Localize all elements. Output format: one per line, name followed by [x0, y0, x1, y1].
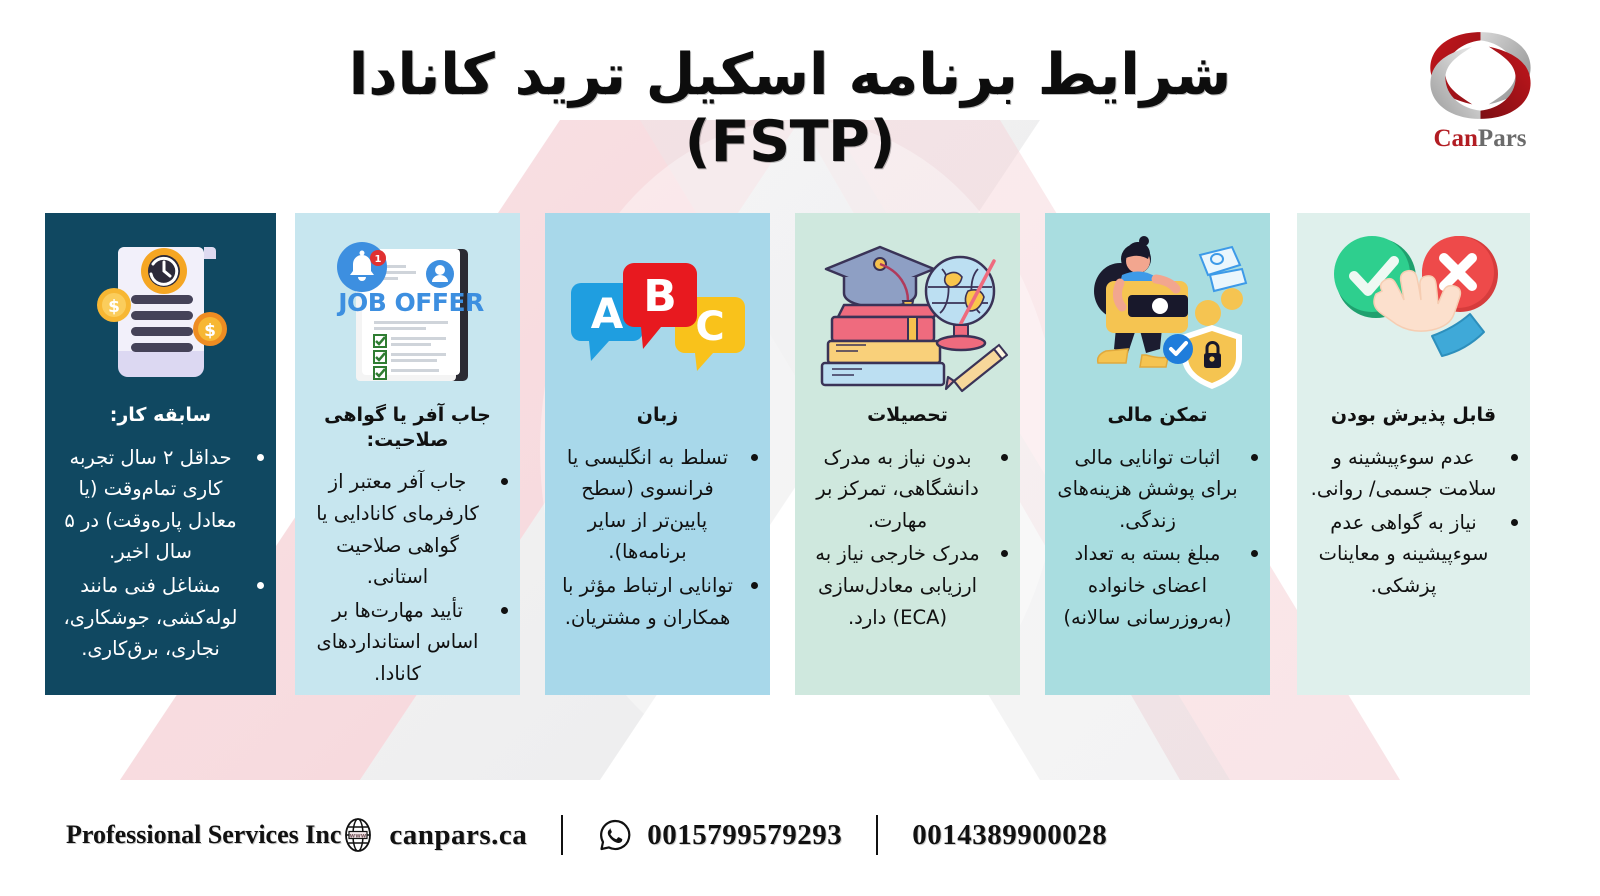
list-item: مبلغ بسته به تعداد اعضای خانواده (به‌روز…	[1057, 538, 1238, 633]
wallet-person-shield-icon	[1060, 229, 1255, 397]
card-bullet-list: حداقل ۲ سال تجربه کاری تمام‌وقت (یا معاد…	[51, 442, 270, 665]
job-offer-illustration: JOB OFFER	[295, 223, 520, 403]
card-bullet-list: تسلط به انگلیسی یا فرانسوی (سطح پایین‌تر…	[551, 442, 764, 633]
canpars-swirl-icon	[1418, 28, 1543, 123]
list-item: تسلط به انگلیسی یا فرانسوی (سطح پایین‌تر…	[557, 442, 738, 568]
education-illustration	[795, 223, 1020, 403]
logo-pars-text: Pars	[1478, 125, 1527, 152]
cards-row: $ $ سابقه کار: حداقل ۲ سال تجربه کاری تم…	[0, 213, 1600, 695]
card-bullet-list: جاب آفر معتبر از کارفرمای کانادایی یا گو…	[301, 466, 514, 689]
infographic-canvas: شرایط برنامه اسکیل ترید کانادا (FSTP)	[0, 0, 1600, 896]
list-item: عدم سوءپیشینه و سلامت جسمی/ روانی.	[1309, 442, 1498, 505]
admissibility-illustration	[1297, 223, 1530, 403]
card-admissibility: قابل پذیرش بودن عدم سوءپیشینه و سلامت جس…	[1297, 213, 1530, 695]
list-item: حداقل ۲ سال تجربه کاری تمام‌وقت (یا معاد…	[57, 442, 244, 568]
footer-divider-1	[561, 815, 563, 855]
abc-speech-bubbles-icon: A C B	[563, 253, 753, 373]
footer-whatsapp-number: 0015799579293	[647, 819, 842, 852]
list-item: مدرک خارجی نیاز به ارزیابی معادل‌سازی (E…	[807, 538, 988, 633]
list-item: توانایی ارتباط مؤثر با همکاران و مشتریان…	[557, 570, 738, 633]
card-bullet-list: عدم سوءپیشینه و سلامت جسمی/ روانی. نیاز …	[1303, 442, 1524, 602]
globe-www-icon: www	[341, 818, 375, 852]
check-cross-hand-icon	[1314, 228, 1514, 398]
footer-website-text: canpars.ca	[389, 819, 527, 852]
footer-divider-2	[876, 815, 878, 855]
svg-text:$: $	[204, 321, 216, 341]
logo-can-text: Can	[1433, 125, 1477, 152]
list-item: بدون نیاز به مدرک دانشگاهی، تمرکز بر مها…	[807, 442, 988, 537]
card-heading: قابل پذیرش بودن	[1297, 403, 1530, 428]
card-heading: سابقه کار:	[45, 403, 276, 428]
footer-secondary-number: 0014389900028	[912, 819, 1107, 852]
work-experience-illustration: $ $	[45, 223, 276, 403]
list-item: مشاغل فنی مانند لوله‌کشی، جوشکاری، نجاری…	[57, 570, 244, 665]
brand-logo: CanPars	[1400, 28, 1560, 158]
svg-text:C: C	[695, 304, 724, 350]
list-item: جاب آفر معتبر از کارفرمای کانادایی یا گو…	[307, 466, 488, 592]
job-offer-clipboard-icon: JOB OFFER	[328, 231, 488, 396]
financial-illustration	[1045, 223, 1270, 403]
card-language: A C B زبان تسلط به انگلیسی یا فر	[545, 213, 770, 695]
books-globe-graduation-cap-icon	[808, 231, 1008, 396]
card-heading: تمکن مالی	[1045, 403, 1270, 428]
notification-badge-count: 1	[374, 254, 381, 265]
page-title: شرایط برنامه اسکیل ترید کانادا (FSTP)	[300, 42, 1280, 177]
svg-text:A: A	[590, 289, 623, 338]
document-clock-coins-icon: $ $	[86, 233, 236, 393]
card-bullet-list: بدون نیاز به مدرک دانشگاهی، تمرکز بر مها…	[801, 442, 1014, 633]
footer-company-name: Professional Services Inc	[66, 820, 341, 850]
svg-text:$: $	[108, 297, 120, 317]
card-heading: جاب آفر یا گواهی صلاحیت:	[295, 403, 520, 452]
logo-wordmark: CanPars	[1400, 125, 1560, 153]
svg-text:www: www	[350, 832, 367, 839]
whatsapp-icon	[597, 817, 633, 853]
card-bullet-list: اثبات توانایی مالی برای پوشش هزینه‌های ز…	[1051, 442, 1264, 633]
list-item: تأیید مهارت‌ها بر اساس استانداردهای کانا…	[307, 595, 488, 690]
language-illustration: A C B	[545, 223, 770, 403]
card-financial-ability: تمکن مالی اثبات توانایی مالی برای پوشش ه…	[1045, 213, 1270, 695]
card-education: تحصیلات بدون نیاز به مدرک دانشگاهی، تمرک…	[795, 213, 1020, 695]
card-heading: زبان	[545, 403, 770, 428]
svg-text:JOB OFFER: JOB OFFER	[336, 288, 484, 317]
svg-text:B: B	[643, 271, 677, 322]
footer-whatsapp[interactable]: 0015799579293	[597, 817, 842, 853]
list-item: نیاز به گواهی عدم سوءپیشینه و معاینات پز…	[1309, 507, 1498, 602]
card-work-experience: $ $ سابقه کار: حداقل ۲ سال تجربه کاری تم…	[45, 213, 276, 695]
header: شرایط برنامه اسکیل ترید کانادا (FSTP)	[0, 0, 1600, 190]
footer-website[interactable]: www canpars.ca	[341, 818, 527, 852]
card-job-offer: JOB OFFER	[295, 213, 520, 695]
list-item: اثبات توانایی مالی برای پوشش هزینه‌های ز…	[1057, 442, 1238, 537]
card-heading: تحصیلات	[795, 403, 1020, 428]
footer: Professional Services Inc www canpars.ca…	[0, 790, 1600, 880]
footer-phone-secondary[interactable]: 0014389900028	[912, 819, 1107, 852]
